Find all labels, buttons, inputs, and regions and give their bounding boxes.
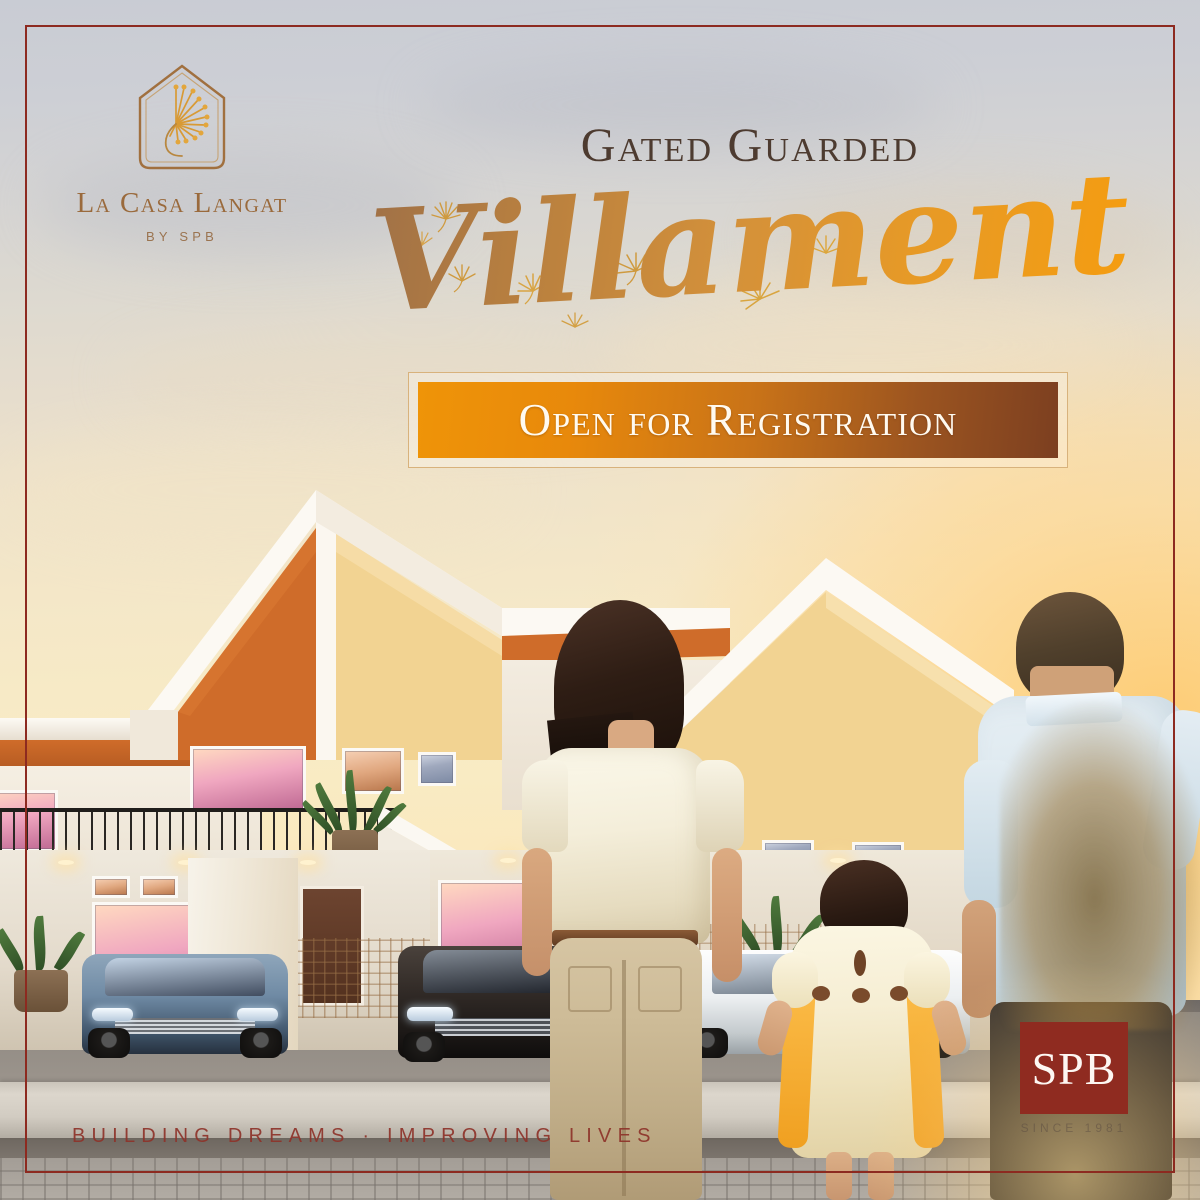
girl-figure [776, 860, 946, 1200]
headline-script-wrap: Villament [400, 167, 1100, 347]
spb-badge: SPB SINCE 1981 [1020, 1022, 1128, 1135]
spb-badge-box: SPB [1020, 1022, 1128, 1114]
blue-car [82, 954, 288, 1054]
spb-badge-since: SINCE 1981 [1020, 1121, 1128, 1135]
headline-block: Gated Guarded [400, 118, 1100, 347]
brand-logo: La Casa Langat BY SPB [56, 62, 308, 244]
logo-name: La Casa Langat [56, 187, 308, 220]
house-dandelion-logo-icon [134, 62, 230, 174]
window [418, 752, 456, 786]
headline-script: Villament [367, 153, 1133, 333]
logo-subtitle: BY SPB [56, 229, 308, 244]
registration-banner-inner[interactable]: Open for Registration [418, 382, 1058, 458]
potted-plant [14, 912, 68, 1012]
arm [712, 848, 742, 982]
arm [522, 848, 552, 976]
arm [962, 900, 996, 1018]
woman-figure [516, 600, 746, 1200]
registration-banner-label: Open for Registration [519, 394, 958, 446]
spb-badge-label: SPB [1032, 1042, 1117, 1095]
tree [1000, 700, 1200, 1030]
window [190, 746, 306, 812]
registration-banner[interactable]: Open for Registration [408, 372, 1068, 468]
tagline: BUILDING DREAMS · IMPROVING LIVES [72, 1125, 657, 1148]
poster-canvas: La Casa Langat BY SPB Gated Guarded [0, 0, 1200, 1200]
